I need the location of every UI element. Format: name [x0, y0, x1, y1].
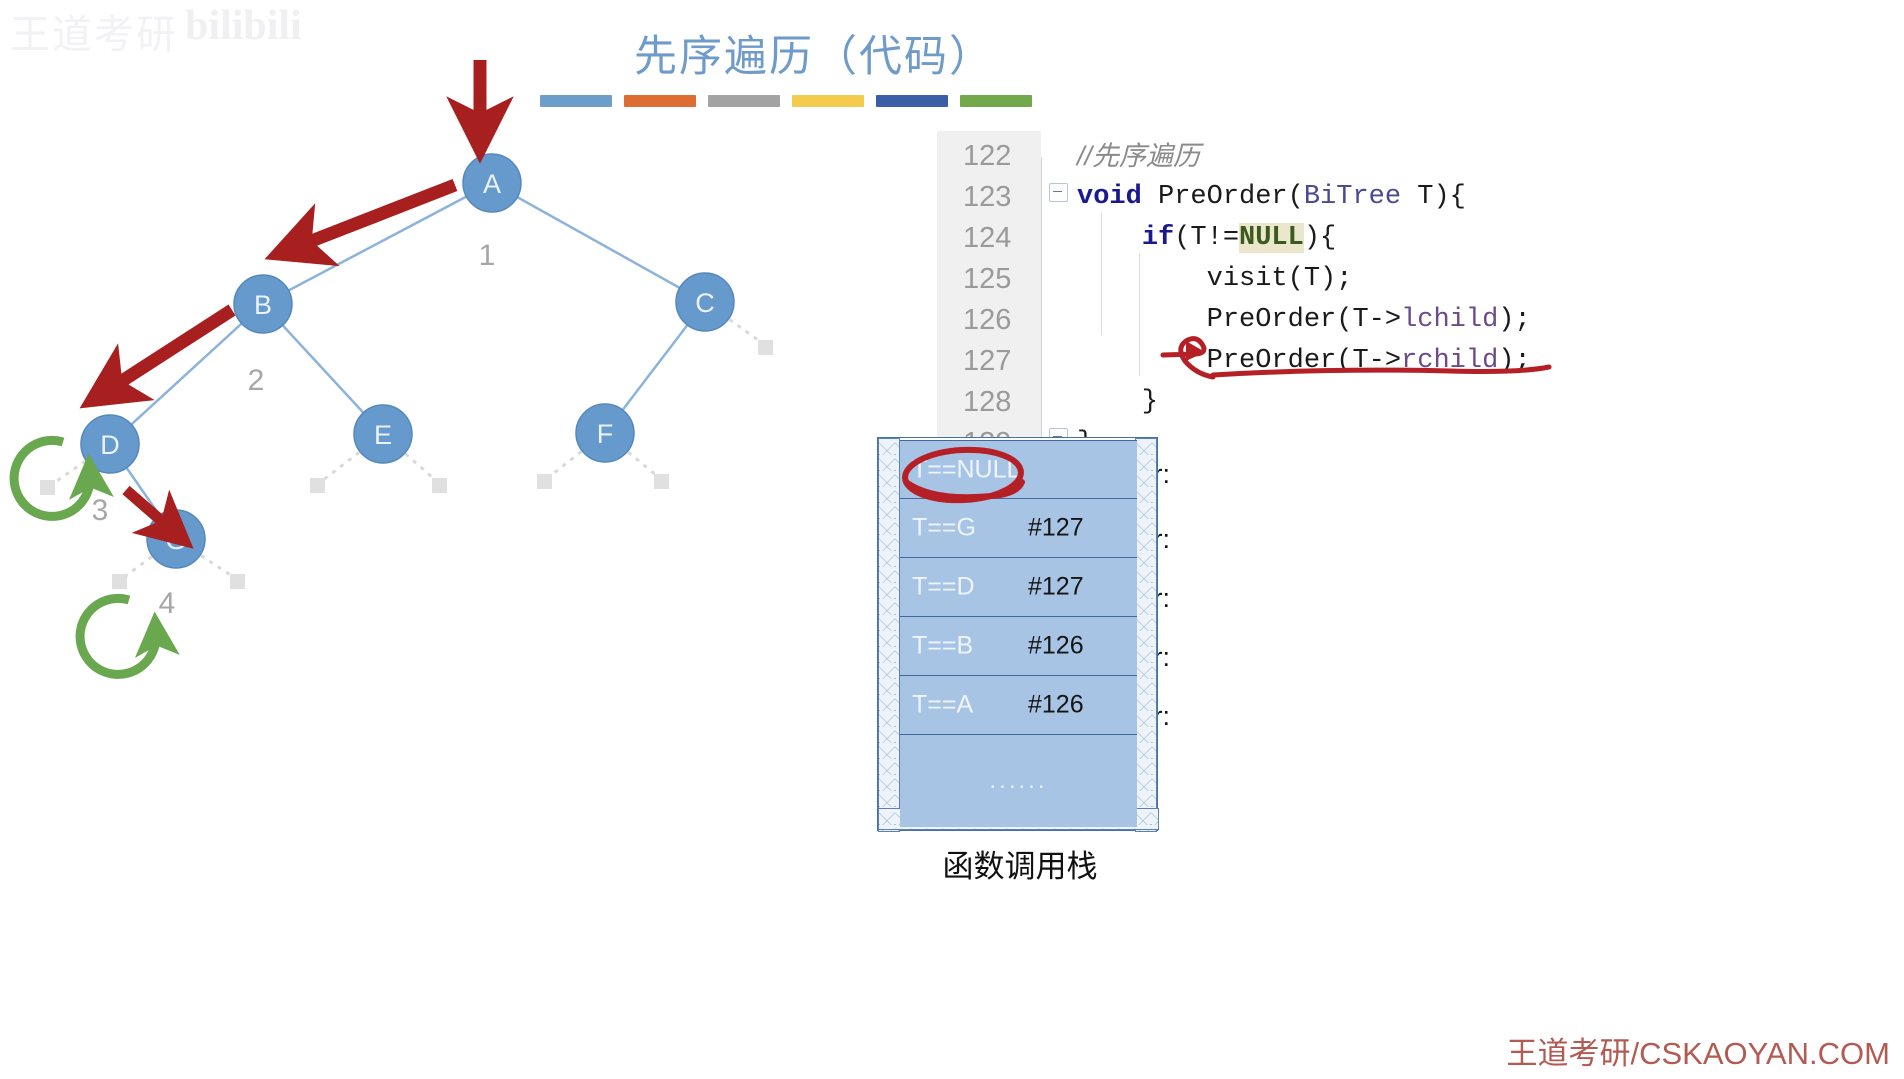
tree-node-f-label: F [597, 419, 614, 449]
param-t: T [1417, 182, 1433, 212]
member-lchild: lchild [1401, 305, 1498, 335]
stack-frame-return: #127 [1028, 514, 1084, 543]
null-return-loops-green [14, 440, 156, 674]
fn-name-preorder: PreOrder [1158, 182, 1288, 212]
stack-frame-var: T==NULL [912, 455, 1020, 484]
type-bitree: BiTree [1304, 182, 1401, 212]
traversal-order-2: 2 [248, 364, 265, 397]
line-number-126: 126 [963, 300, 1033, 341]
line-number-128: 128 [963, 382, 1033, 423]
stack-wall-left [878, 438, 900, 832]
stack-frames-list: T==NULL T==G #127 T==D #127 T==B #126 T=… [900, 440, 1137, 827]
tree-node-e-label: E [374, 420, 392, 450]
tree-node-b-label: B [254, 290, 272, 320]
call-preorder-lchild: PreOrder [1207, 305, 1337, 335]
stack-frame-var: T==G [912, 514, 976, 543]
traversal-order-4: 4 [159, 587, 176, 620]
literal-null-highlighted: NULL [1239, 223, 1304, 253]
line-number-123: 123 [963, 177, 1033, 218]
edge-a-c [492, 183, 705, 302]
title-bar-5 [876, 95, 948, 107]
traversal-order-3: 3 [92, 494, 109, 527]
code-line-127[interactable]: PreOrder(T->rchild); [1077, 341, 1531, 382]
tree-node-c-label: C [695, 288, 715, 318]
code-line-122[interactable]: //先序遍历 [1077, 136, 1200, 177]
stack-frame-a[interactable]: T==A #126 [900, 676, 1137, 735]
call-stack-caption: 函数调用栈 [860, 841, 1180, 886]
traversal-order-1: 1 [479, 239, 496, 272]
stack-frame-return: #127 [1028, 573, 1084, 602]
title-bar-6 [960, 95, 1032, 107]
call-stack-diagram: PreOrder: PreOrder: PreOrder: PreOrder: … [730, 437, 1170, 832]
stack-frame-var: T==D [912, 573, 975, 602]
line-number-124: 124 [963, 218, 1033, 259]
stack-frame-g[interactable]: T==G #127 [900, 499, 1137, 558]
keyword-void: void [1077, 182, 1142, 212]
traversal-arrows-red [108, 60, 480, 390]
green-loop-g-null [80, 598, 156, 674]
line-number-125: 125 [963, 259, 1033, 300]
member-rchild: rchild [1401, 346, 1498, 376]
stack-frame-return: #126 [1028, 691, 1084, 720]
code-line-123[interactable]: void PreOrder(BiTree T){ [1077, 177, 1466, 218]
stack-frame-ellipsis: ...... [900, 735, 1137, 827]
arrow-d-to-g [126, 490, 172, 530]
code-comment-preorder: //先序遍历 [1077, 141, 1200, 171]
call-preorder-rchild: PreOrder [1207, 346, 1337, 376]
stack-frame-var: T==B [912, 632, 973, 661]
tree-node-a-label: A [483, 169, 501, 199]
bilibili-logo-watermark: bilibili [185, 2, 302, 50]
stack-wall-right [1135, 438, 1157, 832]
stack-ellipsis: ...... [989, 767, 1047, 795]
code-line-124[interactable]: if(T!=NULL){ [1077, 218, 1336, 259]
code-line-126[interactable]: PreOrder(T->lchild); [1077, 300, 1531, 341]
stack-frame-var: T==A [912, 691, 973, 720]
stack-frame-return: #126 [1028, 632, 1084, 661]
stack-frame-b[interactable]: T==B #126 [900, 617, 1137, 676]
code-line-128[interactable]: } [1077, 382, 1158, 423]
code-fold-toggle-123[interactable] [1049, 183, 1068, 202]
tree-nodes: A B C D E F G [81, 154, 734, 568]
line-number-127: 127 [963, 341, 1033, 382]
code-line-125[interactable]: visit(T); [1077, 259, 1352, 300]
stack-frame-null[interactable]: T==NULL [900, 440, 1137, 499]
call-visit: visit [1207, 264, 1288, 294]
call-stack-box: T==NULL T==G #127 T==D #127 T==B #126 T=… [877, 437, 1158, 831]
code-editor-panel: 122 //先序遍历 123 void PreOrder(BiTree T){ … [937, 131, 1537, 451]
tree-node-d-label: D [100, 430, 120, 460]
green-loop-d-null [14, 440, 90, 516]
watermark-top-left: 王道考研 [10, 2, 178, 60]
line-number-122: 122 [963, 136, 1033, 177]
stack-frame-d[interactable]: T==D #127 [900, 558, 1137, 617]
tree-edges [110, 183, 705, 539]
watermark-bottom-right: 王道考研/CSKAOYAN.COM [1506, 1028, 1890, 1073]
keyword-if: if [1142, 223, 1174, 253]
slide-canvas: { "watermarks": { "top_left": "王道考研", "t… [0, 0, 1904, 1079]
gutter-divider [1041, 157, 1042, 445]
